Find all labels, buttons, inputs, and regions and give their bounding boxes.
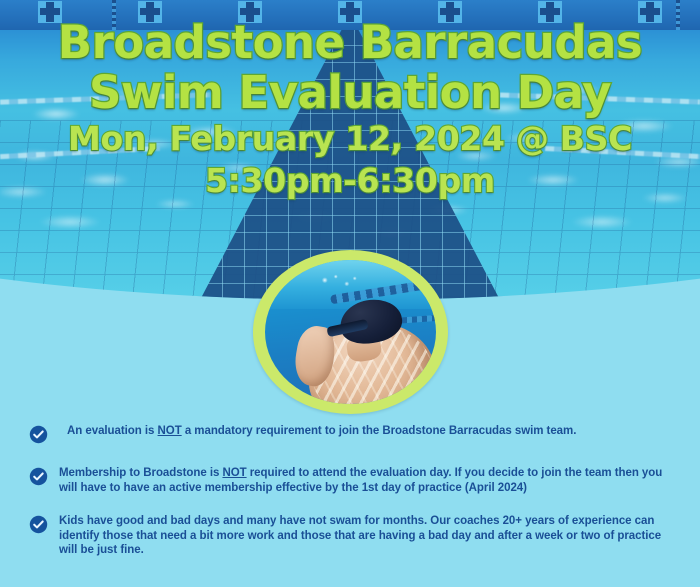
bullet-list: An evaluation is NOT a mandatory require… [0, 424, 700, 572]
flyer-title-line-2: Swim Evaluation Day [0, 68, 700, 118]
bullet-text-1: An evaluation is NOT a mandatory require… [59, 424, 576, 439]
check-circle-icon [29, 467, 48, 486]
flyer-title-line-1: Broadstone Barracudas [0, 18, 700, 68]
bullet-text-3: Kids have good and bad days and many hav… [59, 514, 682, 558]
bullet-item-1: An evaluation is NOT a mandatory require… [0, 424, 700, 444]
bullet-item-2: Membership to Broadstone is NOT required… [0, 466, 700, 495]
bullet-2-seg-1: Membership to Broadstone is [59, 467, 222, 479]
swimmer-circle-photo [265, 260, 436, 404]
headline-block: Broadstone Barracudas Swim Evaluation Da… [0, 18, 700, 202]
bullet-1-emphasis: NOT [158, 425, 182, 437]
swim-evaluation-flyer: Broadstone Barracudas Swim Evaluation Da… [0, 0, 700, 587]
bullet-item-3: Kids have good and bad days and many hav… [0, 514, 700, 558]
check-circle-icon [29, 515, 48, 534]
swimmer-photo-ring [253, 250, 448, 414]
flyer-date-line: Mon, February 12, 2024 @ BSC [0, 118, 700, 160]
bullet-text-2: Membership to Broadstone is NOT required… [59, 466, 682, 495]
check-circle-icon [29, 425, 48, 444]
bullet-2-emphasis: NOT [222, 467, 246, 479]
bullet-1-seg-3: a mandatory requirement to join the Broa… [182, 425, 577, 437]
flyer-time-line: 5:30pm-6:30pm [0, 160, 700, 202]
bullet-1-seg-1: An evaluation is [67, 425, 158, 437]
bubbles [316, 273, 360, 291]
